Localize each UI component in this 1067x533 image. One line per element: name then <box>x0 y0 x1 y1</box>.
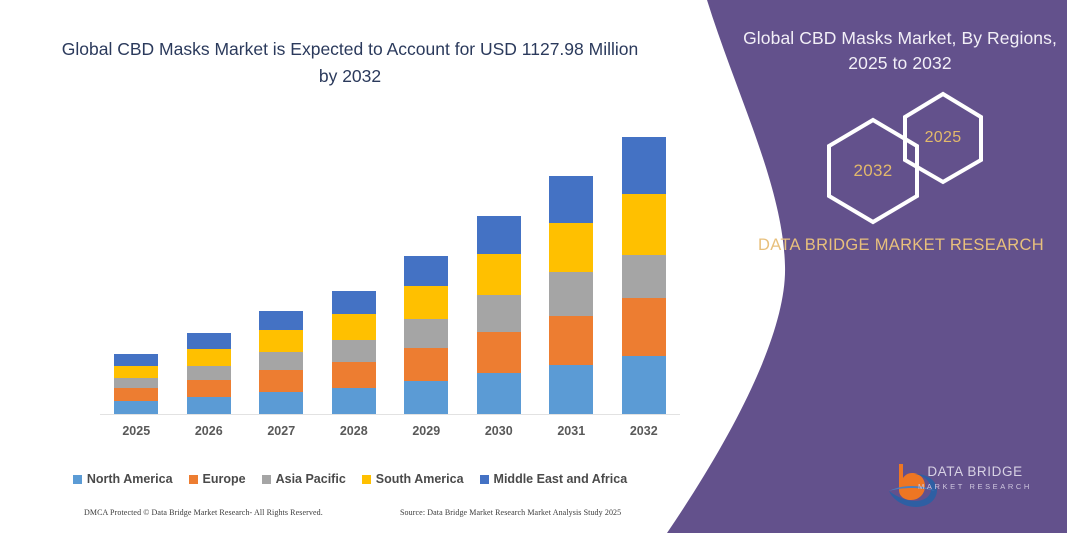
legend-swatch <box>262 475 271 484</box>
logo-wordmark: DATA BRIDGE MARKET RESEARCH <box>895 464 1055 493</box>
bar-segment[interactable] <box>404 348 448 381</box>
chart-baseline <box>100 414 680 415</box>
x-axis-tick: 2028 <box>318 424 391 444</box>
x-axis-tick: 2031 <box>535 424 608 444</box>
bar-segment[interactable] <box>114 401 158 414</box>
bar-segment[interactable] <box>187 380 231 397</box>
legend-label: North America <box>87 472 173 486</box>
bar-segment[interactable] <box>332 388 376 414</box>
bar-slot <box>463 110 536 414</box>
footer-source: Source: Data Bridge Market Research Mark… <box>400 508 621 517</box>
bar-segment[interactable] <box>549 223 593 272</box>
bar-segment[interactable] <box>404 286 448 319</box>
stacked-bar[interactable] <box>477 216 521 414</box>
legend-swatch <box>73 475 82 484</box>
bar-segment[interactable] <box>332 340 376 362</box>
legend-item[interactable]: Asia Pacific <box>262 472 346 486</box>
x-axis-tick: 2029 <box>390 424 463 444</box>
stacked-bar[interactable] <box>187 333 231 414</box>
footer-copyright: DMCA Protected © Data Bridge Market Rese… <box>84 508 323 517</box>
legend-item[interactable]: North America <box>73 472 173 486</box>
bar-segment[interactable] <box>477 373 521 414</box>
bar-segment[interactable] <box>477 295 521 332</box>
chart-panel: Global CBD Masks Market is Expected to A… <box>0 0 700 533</box>
legend-label: South America <box>376 472 464 486</box>
stacked-bar[interactable] <box>549 176 593 414</box>
legend-item[interactable]: Europe <box>189 472 246 486</box>
bar-segment[interactable] <box>477 216 521 254</box>
bar-segment[interactable] <box>259 370 303 392</box>
bar-segment[interactable] <box>114 388 158 401</box>
bar-segment[interactable] <box>332 291 376 314</box>
hexagon-group: 2032 2025 <box>737 88 1067 218</box>
bar-segment[interactable] <box>549 272 593 316</box>
brand-panel-content: Global CBD Masks Market, By Regions, 202… <box>737 0 1067 533</box>
bar-segment[interactable] <box>259 311 303 330</box>
bar-segment[interactable] <box>259 352 303 370</box>
bar-slot <box>318 110 391 414</box>
hexagon-start-year-label: 2025 <box>899 129 987 147</box>
logo-line-2: MARKET RESEARCH <box>895 480 1055 493</box>
stacked-bar[interactable] <box>622 137 666 414</box>
hexagon-start-year: 2025 <box>899 90 987 186</box>
bar-segment[interactable] <box>114 354 158 366</box>
bar-slot <box>245 110 318 414</box>
legend-swatch <box>189 475 198 484</box>
stacked-bar[interactable] <box>404 256 448 414</box>
legend-swatch <box>480 475 489 484</box>
legend-item[interactable]: South America <box>362 472 464 486</box>
bar-segment[interactable] <box>404 319 448 348</box>
stacked-bar[interactable] <box>259 311 303 414</box>
chart-footer: DMCA Protected © Data Bridge Market Rese… <box>0 508 700 526</box>
legend-label: Asia Pacific <box>276 472 346 486</box>
x-axis-tick: 2025 <box>100 424 173 444</box>
logo-line-1: DATA BRIDGE <box>895 464 1055 480</box>
bar-segment[interactable] <box>549 176 593 223</box>
bar-segment[interactable] <box>477 332 521 373</box>
infographic-root: Global CBD Masks Market is Expected to A… <box>0 0 1067 533</box>
bar-segment[interactable] <box>622 194 666 255</box>
bar-segment[interactable] <box>332 362 376 388</box>
bar-segment[interactable] <box>187 397 231 414</box>
brand-panel: Global CBD Masks Market, By Regions, 202… <box>667 0 1067 533</box>
bar-segment[interactable] <box>477 254 521 295</box>
legend-label: Middle East and Africa <box>494 472 628 486</box>
company-logo: DATA BRIDGE MARKET RESEARCH <box>803 460 1053 512</box>
x-axis-tick: 2030 <box>463 424 536 444</box>
bar-segment[interactable] <box>114 378 158 388</box>
bar-segment[interactable] <box>259 330 303 352</box>
bar-segment[interactable] <box>549 316 593 365</box>
bar-segment[interactable] <box>404 381 448 414</box>
stacked-bar-chart <box>100 110 680 414</box>
bar-segment[interactable] <box>114 366 158 378</box>
stacked-bar[interactable] <box>332 291 376 414</box>
chart-title: Global CBD Masks Market is Expected to A… <box>60 36 640 90</box>
bar-segment[interactable] <box>187 333 231 349</box>
bar-segment[interactable] <box>549 365 593 414</box>
bar-segment[interactable] <box>622 298 666 356</box>
chart-legend: North AmericaEuropeAsia PacificSouth Ame… <box>0 472 700 486</box>
bar-slot <box>390 110 463 414</box>
legend-label: Europe <box>203 472 246 486</box>
bar-segment[interactable] <box>622 356 666 414</box>
bar-segment[interactable] <box>622 255 666 298</box>
brand-name: DATA BRIDGE MARKET RESEARCH <box>745 232 1057 258</box>
bar-segment[interactable] <box>332 314 376 340</box>
panel-title: Global CBD Masks Market, By Regions, 202… <box>737 26 1063 76</box>
legend-swatch <box>362 475 371 484</box>
bar-slot <box>173 110 246 414</box>
bar-segment[interactable] <box>187 349 231 366</box>
x-axis-tick: 2027 <box>245 424 318 444</box>
bar-segment[interactable] <box>622 137 666 194</box>
bar-slot <box>100 110 173 414</box>
x-axis-labels: 20252026202720282029203020312032 <box>100 424 680 444</box>
x-axis-tick: 2026 <box>173 424 246 444</box>
bar-segment[interactable] <box>404 256 448 286</box>
bar-segment[interactable] <box>259 392 303 414</box>
bar-slot <box>535 110 608 414</box>
legend-item[interactable]: Middle East and Africa <box>480 472 628 486</box>
stacked-bar[interactable] <box>114 354 158 414</box>
bar-segment[interactable] <box>187 366 231 380</box>
